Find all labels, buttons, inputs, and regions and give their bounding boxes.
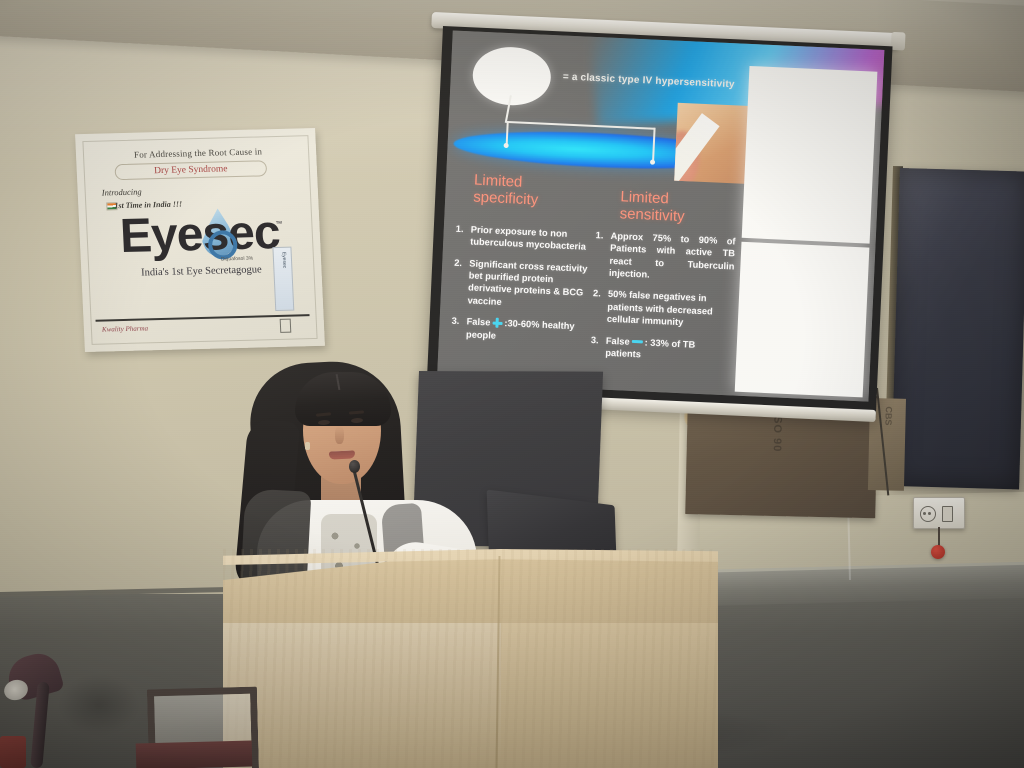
list-text-composite: False:30-60% healthy people <box>466 316 588 346</box>
nose <box>335 426 344 444</box>
poster-introducing: Introducing <box>102 187 142 198</box>
list-item: 1. Prior exposure to non tuberculous myc… <box>455 223 592 254</box>
projected-slide: = a classic type IV hypersensitivity Lim… <box>437 30 885 401</box>
wall-socket-switch[interactable] <box>913 497 965 529</box>
list-number: 1. <box>594 229 607 279</box>
screen-surface: = a classic type IV hypersensitivity Lim… <box>437 30 885 401</box>
hair-top <box>295 372 391 426</box>
light-switch-toggle[interactable] <box>942 506 953 522</box>
list-number: 3. <box>590 334 602 359</box>
slide-right-column: 1. Approx 75% to 90% of Patients with ac… <box>590 229 736 373</box>
list-item: 3. False:30-60% healthy people <box>451 315 588 346</box>
microphone-head-icon <box>349 460 360 473</box>
mouth <box>329 450 355 459</box>
list-text: Approx 75% to 90% of Patients with activ… <box>609 230 736 285</box>
cardboard-label: ISO 90 <box>771 412 784 453</box>
slide-white-panel-top <box>742 66 878 244</box>
cardboard-secondary-label: CBS <box>883 406 893 425</box>
mantoux-test-photo <box>674 103 749 184</box>
list-number: 3. <box>451 315 463 340</box>
notice-board <box>891 168 1024 489</box>
list-text: Significant cross reactivity bet purifie… <box>467 257 590 312</box>
wall-poster-eyesec: For Addressing the Root Cause in Dry Eye… <box>75 128 325 352</box>
list-number: 2. <box>592 288 605 326</box>
measuring-ruler <box>674 113 719 184</box>
lamp-shadow <box>60 676 138 734</box>
list-text: 50% false negatives in patients with dec… <box>607 288 734 331</box>
presentation-photo: For Addressing the Root Cause in Dry Eye… <box>0 0 1024 768</box>
screen-housing-cap <box>891 32 906 51</box>
list-text-composite: False: 33% of TB patients <box>605 334 731 364</box>
earring <box>305 442 310 450</box>
poster-corner-mark <box>280 319 292 333</box>
minus-icon <box>632 339 643 342</box>
list-item: 1. Approx 75% to 90% of Patients with ac… <box>594 229 736 285</box>
trademark-symbol: ™ <box>275 221 282 228</box>
red-object-corner <box>0 736 26 768</box>
poster-molecule: Diquafosol 3% <box>221 256 254 263</box>
red-pull-cord[interactable] <box>931 545 945 559</box>
board-sheen <box>891 168 1024 489</box>
slide-left-column: 1. Prior exposure to non tuberculous myc… <box>450 223 592 355</box>
poster-strip-text: Eyesec <box>281 252 288 269</box>
list-text: Prior exposure to non tuberculous mycoba… <box>470 223 592 253</box>
list-text: False <box>606 335 630 346</box>
list-number: 1. <box>455 223 467 248</box>
poster-maker-logo: Kwality Pharma <box>102 324 148 333</box>
list-item: 3. False: 33% of TB patients <box>590 334 731 365</box>
list-number: 2. <box>452 256 465 306</box>
chair-seat <box>136 740 253 768</box>
slide-heading-left: Limited specificity <box>473 172 584 211</box>
poster-product-strip: Eyesec <box>272 247 294 311</box>
list-text: False <box>466 317 490 328</box>
power-socket-icon <box>920 506 936 522</box>
list-item: 2. 50% false negatives in patients with … <box>592 288 734 331</box>
slide-heading-right: Limited sensitivity <box>619 188 730 227</box>
list-item: 2. Significant cross reactivity bet puri… <box>452 256 590 312</box>
slide-white-panel-bottom <box>735 242 870 398</box>
lectern-left-face <box>223 600 501 768</box>
plus-icon <box>492 318 502 328</box>
slide-callout-bubble <box>472 45 553 106</box>
